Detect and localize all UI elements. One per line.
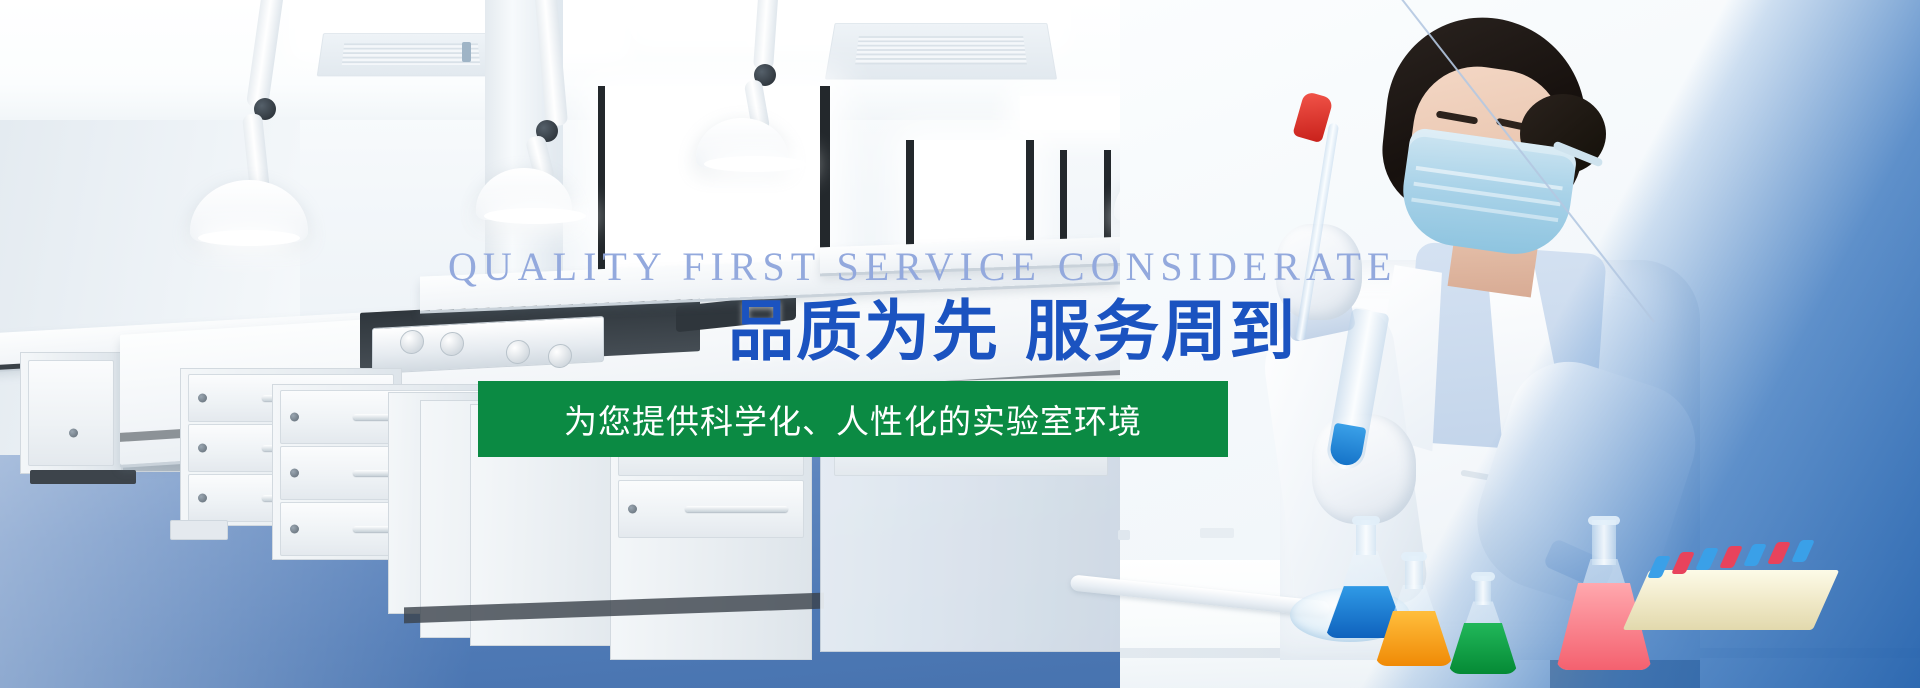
hero-banner: QUALITY FIRST SERVICE CONSIDERATE 品质为先 服… [0,0,1920,688]
banner-headline: 品质为先 服务周到 [728,296,1297,367]
banner-eyebrow-text: QUALITY FIRST SERVICE CONSIDERATE [448,247,1397,287]
banner-subtitle-text: 为您提供科学化、人性化的实验室环境 [564,395,1142,443]
banner-text-overlay: QUALITY FIRST SERVICE CONSIDERATE 品质为先 服… [0,0,1920,688]
banner-subtitle-bar: 为您提供科学化、人性化的实验室环境 [478,381,1228,457]
